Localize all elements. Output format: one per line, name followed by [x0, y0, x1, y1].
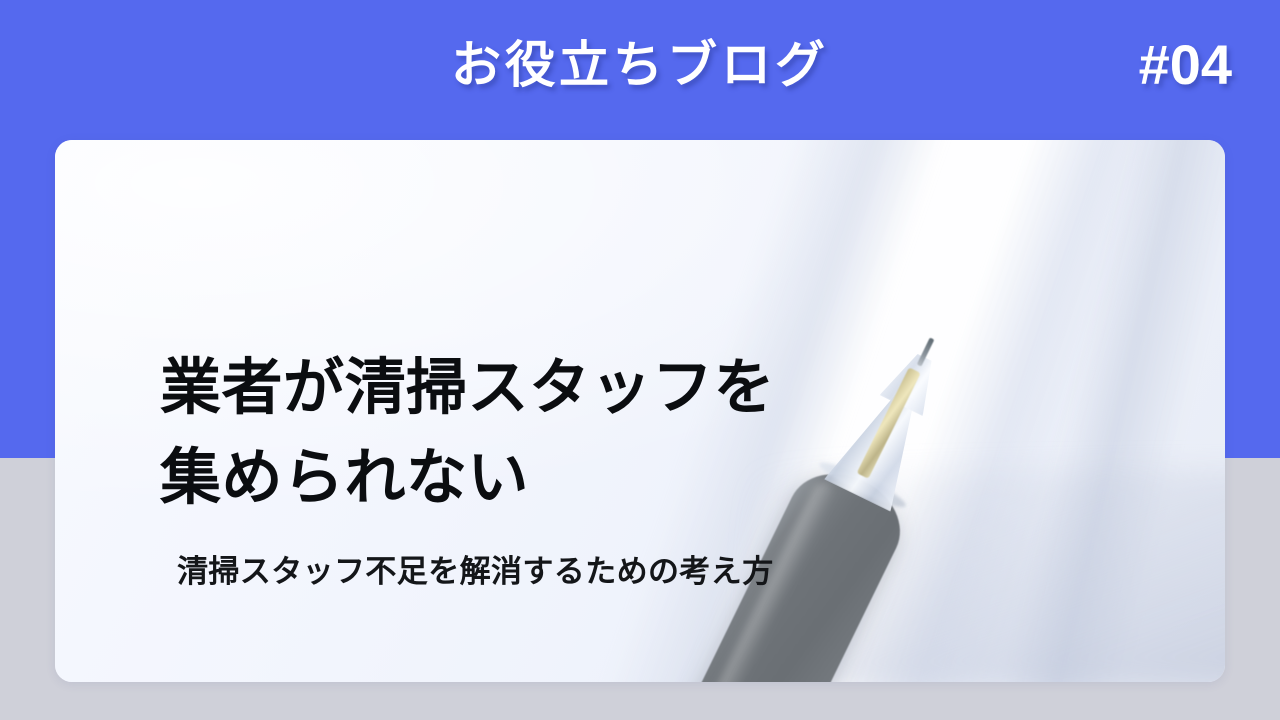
author-name: 生田 直子 [283, 676, 443, 682]
issue-number-badge: #04 [1139, 26, 1232, 104]
article-title: 業者が清掃スタッフを 集められない [160, 342, 880, 522]
article-subtitle: 清掃スタッフ不足を解消するための考え方 [177, 551, 774, 593]
header-title: お役立ちブログ [0, 30, 1280, 100]
slide-canvas: お役立ちブログ #04 業者が清掃スタッフを 集められない 清掃スタッフ不足を解… [0, 0, 1280, 720]
content-card: 業者が清掃スタッフを 集められない 清掃スタッフ不足を解消するための考え方 執筆… [55, 140, 1225, 682]
author-block: 執筆者： 生田 直子 有限会社ｴﾋﾒｱｲﾑｻｰﾋﾞｽ 広報担当 [155, 676, 477, 682]
slide-header: お役立ちブログ #04 [0, 0, 1280, 132]
card-text-layer: 業者が清掃スタッフを 集められない 清掃スタッフ不足を解消するための考え方 執筆… [55, 140, 1225, 682]
author-name-line: 執筆者： 生田 直子 [155, 676, 477, 682]
